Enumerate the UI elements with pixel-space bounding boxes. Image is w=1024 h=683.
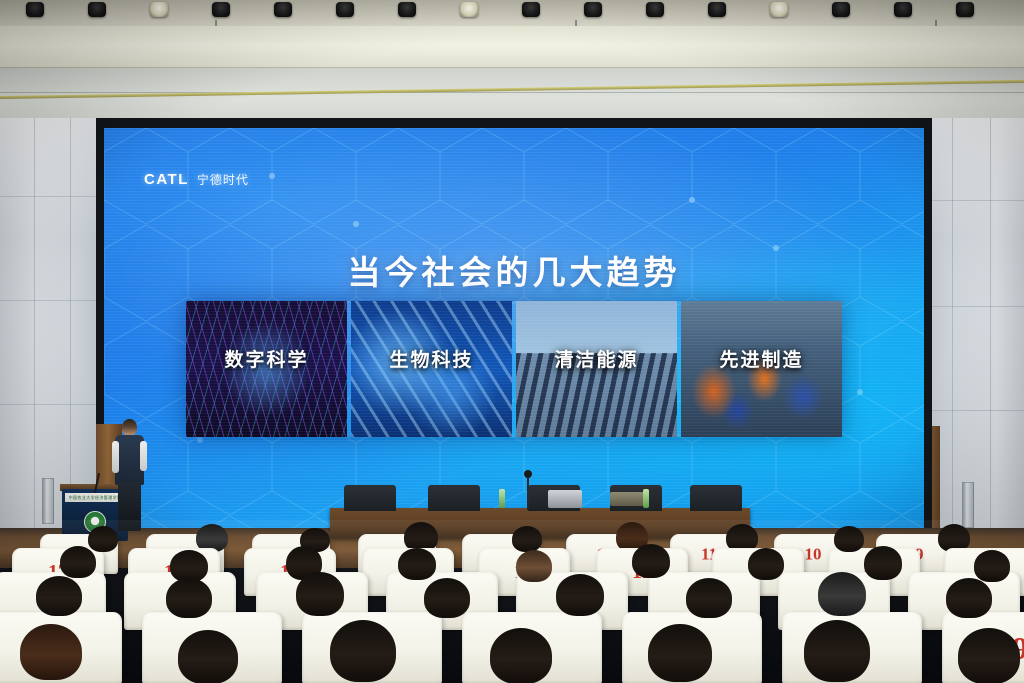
audience-member-head	[60, 546, 96, 578]
trend-panel-label: 清洁能源	[516, 345, 677, 372]
auditorium-photo: CATL 宁德时代 当今社会的几大趋势 数字科学生物科技清洁能源先进制造 中国农…	[0, 0, 1024, 683]
ceiling-spotlight	[150, 2, 168, 17]
audience-member-head	[36, 576, 82, 616]
ceiling-spotlight	[770, 2, 788, 17]
audience-member-head	[88, 526, 118, 552]
audience-member-head	[398, 548, 436, 580]
presenter-arm-right	[140, 441, 147, 471]
ceiling-spotlight	[88, 2, 106, 17]
slide-title: 当今社会的几大趋势	[104, 246, 924, 294]
ceiling-spotlight	[956, 2, 974, 17]
audience-member-head	[864, 546, 902, 580]
ceiling-spotlight	[894, 2, 912, 17]
table-microphone-stand	[527, 474, 529, 510]
logo-chinese-text: 宁德时代	[197, 171, 249, 188]
presentation-screen: CATL 宁德时代 当今社会的几大趋势 数字科学生物科技清洁能源先进制造	[104, 128, 924, 528]
ceiling-spotlight	[460, 2, 478, 17]
trend-panel-label: 数字科学	[186, 345, 347, 372]
ceiling-spotlight	[646, 2, 664, 17]
ceiling-spotlight	[274, 2, 292, 17]
presenter-head	[122, 419, 137, 436]
audience-member-head	[20, 624, 82, 680]
presenter	[112, 419, 148, 531]
audience-member-head	[748, 548, 784, 580]
water-bottle	[499, 489, 505, 508]
trend-panel-row: 数字科学生物科技清洁能源先进制造	[186, 301, 842, 437]
audience-member-head	[804, 620, 870, 682]
ceiling-light-cove	[0, 26, 1024, 70]
audience-member-head	[330, 620, 396, 682]
audience-member-head	[556, 574, 604, 616]
audience-member-head	[632, 544, 670, 578]
audience-member-head	[834, 526, 864, 552]
trend-panel-2: 生物科技	[351, 301, 512, 437]
logo-mark-text: CATL	[144, 171, 189, 188]
audience-member-head	[974, 550, 1010, 582]
wall-left	[0, 118, 104, 538]
water-bottle	[643, 489, 649, 508]
laptop	[548, 490, 582, 508]
ceiling-spotlight	[212, 2, 230, 17]
audience-member-head	[818, 572, 866, 616]
ceiling-spotlight	[398, 2, 416, 17]
trend-panel-1: 数字科学	[186, 301, 347, 437]
audience-member-head	[686, 578, 732, 618]
ceiling-spotlight	[584, 2, 602, 17]
audience-member-head	[946, 578, 992, 618]
ceiling-spotlight	[832, 2, 850, 17]
laptop	[610, 492, 644, 506]
trend-panel-label: 先进制造	[681, 345, 842, 372]
presenter-arm-left	[112, 441, 119, 473]
table-microphone	[524, 470, 532, 478]
audience-member-head	[166, 578, 212, 618]
audience-member-head	[424, 578, 470, 618]
trend-panel-4: 先进制造	[681, 301, 842, 437]
wall-vent-left	[42, 478, 54, 524]
ceiling-spotlight	[522, 2, 540, 17]
audience-member-head	[490, 628, 552, 683]
audience-member-head	[958, 628, 1020, 683]
audience-seating: 1716151413121110091716151514121109081615…	[0, 520, 1024, 683]
trend-panel-label: 生物科技	[351, 345, 512, 372]
audience-member-head	[648, 624, 712, 682]
head-table-chair	[428, 485, 480, 511]
audience-member-head	[296, 572, 344, 616]
trend-panel-3: 清洁能源	[516, 301, 677, 437]
ceiling-spotlight	[26, 2, 44, 17]
head-table-chair	[690, 485, 742, 511]
ceiling-spotlight	[336, 2, 354, 17]
audience-member-head	[178, 630, 238, 683]
ceiling-spotlight	[708, 2, 726, 17]
audience-member-head	[516, 550, 552, 582]
catl-logo: CATL 宁德时代	[144, 171, 249, 188]
audience-member-head	[512, 526, 542, 552]
head-table-chair	[344, 485, 396, 511]
